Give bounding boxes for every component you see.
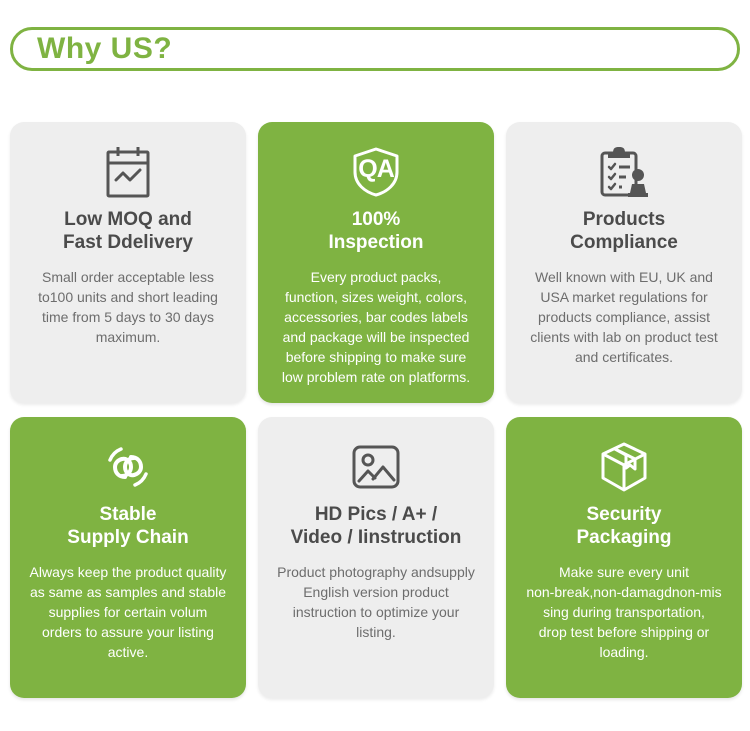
calendar-chart-icon [103,144,153,200]
card-title: Stable Supply Chain [67,503,188,549]
feature-card-low-moq: Low MOQ and Fast Ddelivery Small order a… [10,122,246,403]
feature-card-grid: Low MOQ and Fast Ddelivery Small order a… [10,122,742,698]
card-body: Every product packs, function, sizes wei… [282,268,470,387]
feature-card-supply-chain: Stable Supply Chain Always keep the prod… [10,417,246,698]
chain-link-icon [101,439,155,495]
qa-shield-icon: QA [349,144,403,200]
why-us-infographic: Why US? Low MOQ and Fast Ddelivery Small… [0,0,750,731]
feature-card-hd-pics: HD Pics / A+ / Video / Iinstruction Prod… [258,417,494,698]
card-title: Low MOQ and Fast Ddelivery [63,208,193,254]
feature-card-inspection: QA 100% Inspection Every product packs, … [258,122,494,403]
card-title: Products Compliance [570,208,678,254]
image-photo-icon [350,439,402,495]
card-body: Small order acceptable less to100 units … [38,268,218,348]
qa-icon-label: QA [349,157,403,182]
card-title: 100% Inspection [328,208,423,254]
card-body: Well known with EU, UK and USA market re… [530,268,718,367]
card-body: Always keep the product quality as same … [30,563,227,662]
card-body: Make sure every unit non-break,non-damag… [526,563,721,662]
package-box-icon [597,439,651,495]
feature-card-security-packaging: Security Packaging Make sure every unit … [506,417,742,698]
card-title: HD Pics / A+ / Video / Iinstruction [291,503,462,549]
header-banner: Why US? [10,27,740,71]
feature-card-compliance: Products Compliance Well known with EU, … [506,122,742,403]
page-title: Why US? [13,34,172,64]
card-title: Security Packaging [576,503,671,549]
card-body: Product photography andsupply English ve… [277,563,475,643]
clipboard-stamp-icon [598,144,650,200]
